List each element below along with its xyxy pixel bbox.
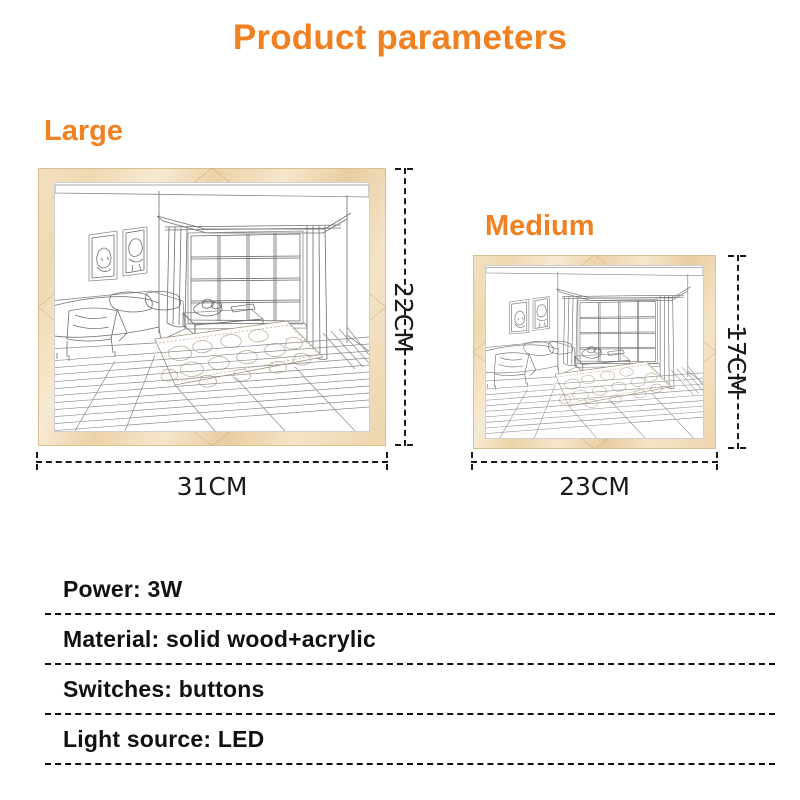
specification-list: Power: 3W Material: solid wood+acrylic S… (45, 565, 775, 765)
dimension-label-large-height: 22CM (389, 282, 418, 353)
product-frame-medium[interactable] (473, 255, 716, 449)
dimension-cap-start (395, 168, 413, 170)
spec-row: Material: solid wood+acrylic (45, 615, 775, 665)
frame-artwork-medium (486, 266, 703, 438)
spec-row: Switches: buttons (45, 665, 775, 715)
spec-text: Switches: buttons (45, 676, 264, 703)
dimension-cap-start (471, 452, 473, 470)
spec-text: Power: 3W (45, 576, 182, 603)
bedroom-line-art-icon (486, 266, 703, 438)
dimension-label-large-width: 31CM (36, 472, 388, 501)
bedroom-line-art-icon (55, 183, 369, 431)
size-label-medium: Medium (485, 210, 595, 243)
size-label-large: Large (44, 115, 123, 148)
dimension-cap-start (36, 452, 38, 470)
dimension-cap-end (716, 452, 718, 470)
product-frame-large[interactable] (38, 168, 386, 446)
frame-artwork-large (55, 183, 369, 431)
spec-row: Power: 3W (45, 565, 775, 615)
dimension-label-medium-height: 17CM (722, 325, 751, 396)
dimension-cap-start (728, 255, 746, 257)
page-title: Product parameters (0, 18, 800, 58)
dimension-line-medium-width (471, 452, 718, 470)
dimension-cap-end (386, 452, 388, 470)
dimension-line-stroke (471, 461, 718, 463)
spec-row: Light source: LED (45, 715, 775, 765)
dimension-line-stroke (36, 461, 388, 463)
dimension-line-large-width (36, 452, 388, 470)
dimension-cap-end (728, 447, 746, 449)
dimension-cap-end (395, 444, 413, 446)
spec-text: Light source: LED (45, 726, 264, 753)
dimension-label-medium-width: 23CM (471, 472, 718, 501)
spec-text: Material: solid wood+acrylic (45, 626, 376, 653)
